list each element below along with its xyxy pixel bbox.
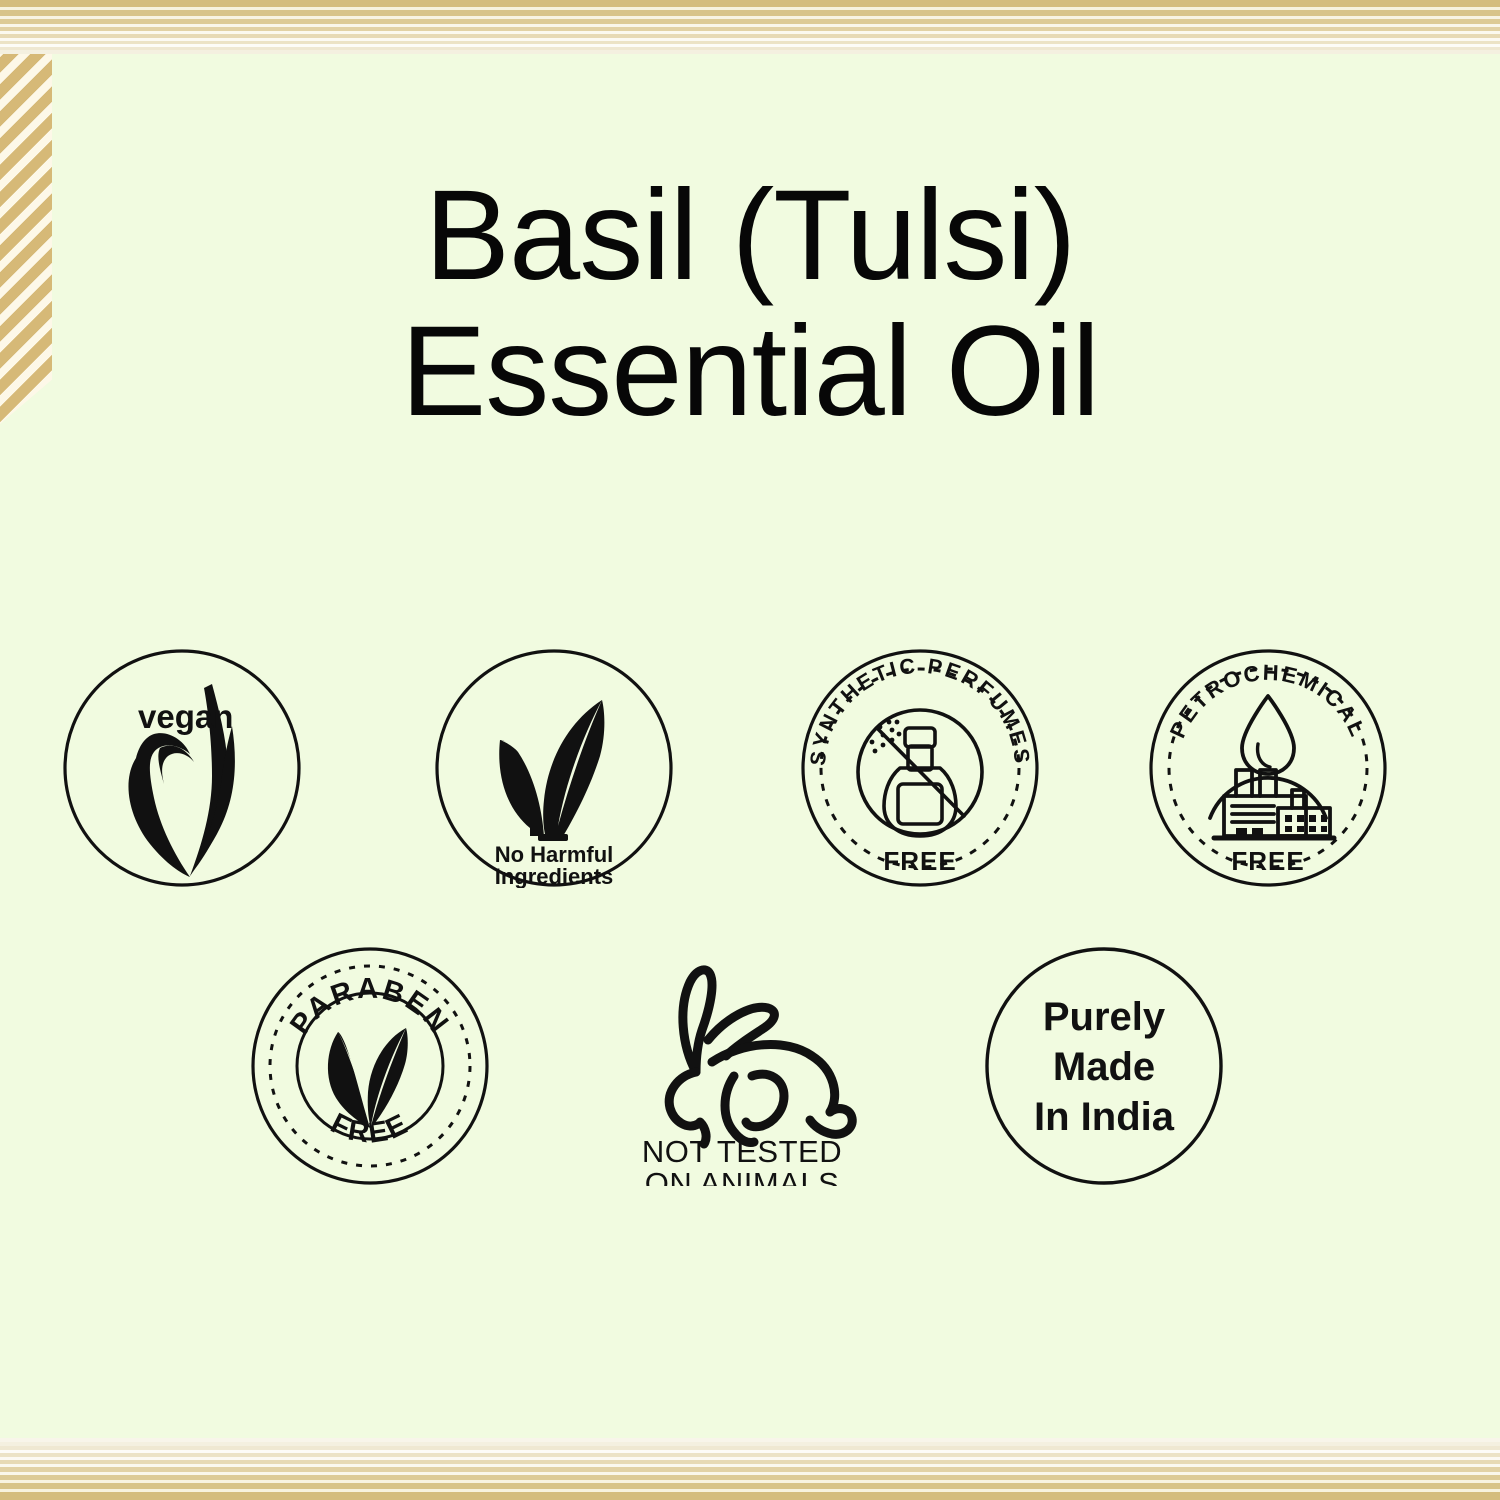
top-border-stripes [0,0,1500,54]
badge-synthetic-perfumes-free: SYNTHETIC PERFUMES [800,648,1040,888]
bottom-stripe-11 [0,1450,1500,1453]
badge-label: FREE [883,846,956,876]
bottom-border-stripes [0,1438,1500,1500]
bottom-stripe-10 [0,1453,1500,1457]
badge-label-line-3: In India [1034,1095,1175,1139]
bottom-stripe-0 [0,1492,1500,1500]
badge-label-line-1: NOT TESTED [642,1134,842,1169]
badge-not-tested-on-animals: NOT TESTED ON ANIMALS [612,946,872,1186]
top-stripe-13 [0,50,1500,54]
badge-vegan: vegan [62,648,302,888]
badge-petrochemical-free: PETROCHEMICAL [1148,648,1388,888]
petrochemical-badge-svg: PETROCHEMICAL [1148,648,1388,888]
bottom-stripe-14 [0,1438,1500,1442]
vegan-badge-svg: vegan [62,648,302,888]
title-line-1: Basil (Tulsi) [0,168,1500,304]
bottom-stripe-7 [0,1464,1500,1467]
bottom-stripe-6 [0,1467,1500,1472]
badge-arc-text: PETROCHEMICAL [1165,660,1371,742]
two-leaves-icon [499,700,604,841]
rabbit-icon [669,970,852,1144]
perfume-bottle-prohibited-icon [858,710,982,836]
paraben-badge-svg: PARABEN FREE [250,946,490,1186]
page-title: Basil (Tulsi) Essential Oil [0,168,1500,440]
bottom-stripe-4 [0,1475,1500,1480]
badge-paraben-free: PARABEN FREE [250,946,490,1186]
bottom-stripe-8 [0,1460,1500,1464]
bottom-stripe-12 [0,1446,1500,1450]
badge-arc-text: PARABEN [284,973,456,1041]
made-in-india-badge-svg: Purely Made In India [984,946,1224,1186]
droplet-factory-icon [1210,696,1334,838]
bottom-stripe-13 [0,1442,1500,1446]
bottom-stripe-2 [0,1483,1500,1489]
bottom-stripe-5 [0,1472,1500,1475]
top-stripe-0 [0,0,1500,7]
badge-purely-made-in-india: Purely Made In India [984,946,1224,1186]
badge-label-line-2: Made [1053,1045,1155,1089]
bottom-stripe-9 [0,1457,1500,1460]
badge-row-bottom: PARABEN FREE [250,946,1280,1186]
badge-no-harmful-ingredients: No Harmful Ingredients [434,648,674,888]
bottom-stripe-1 [0,1489,1500,1492]
title-line-2: Essential Oil [0,304,1500,440]
no-harmful-badge-svg: No Harmful Ingredients [434,648,674,888]
product-poster: Basil (Tulsi) Essential Oil vegan [0,0,1500,1500]
bottom-stripe-3 [0,1480,1500,1483]
badge-label: FREE [1231,846,1304,876]
not-tested-badge-svg: NOT TESTED ON ANIMALS [612,946,872,1186]
badge-row-top: vegan No Harmful Ingredients [62,648,1452,888]
badge-outline-circle [65,651,299,885]
badge-label: vegan [138,698,233,735]
badge-label-line-2: ON ANIMALS [645,1166,840,1186]
synthetic-perfumes-badge-svg: SYNTHETIC PERFUMES [800,648,1040,888]
badge-label-line-2: Ingredients [495,864,614,888]
badge-label-line-1: Purely [1043,995,1166,1039]
